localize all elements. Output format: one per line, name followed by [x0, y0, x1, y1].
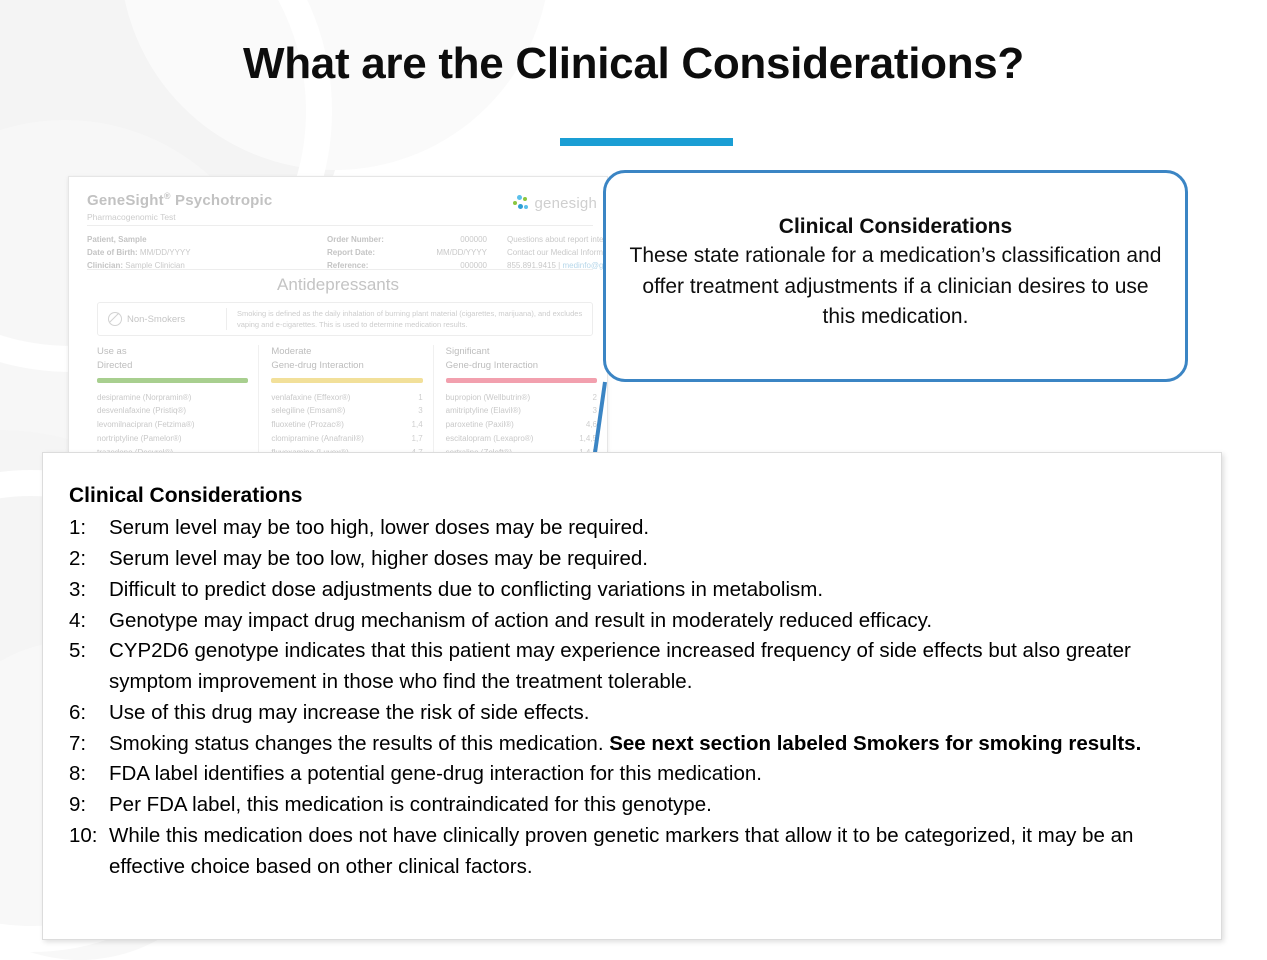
- column-color-bar: [271, 378, 422, 383]
- medication-name: desipramine (Norpramin®): [97, 391, 191, 405]
- considerations-list: 1:Serum level may be too high, lower dos…: [69, 513, 1195, 882]
- item-number: 1:: [69, 513, 109, 544]
- column-heading-line1: Significant: [446, 345, 597, 359]
- column-heading-line1: Moderate: [271, 345, 422, 359]
- list-item: 4:Genotype may impact drug mechanism of …: [69, 606, 1195, 637]
- list-item: 8:FDA label identifies a potential gene-…: [69, 759, 1195, 790]
- clinical-considerations-callout: Clinical Considerations These state rati…: [603, 170, 1188, 382]
- medication-notes: 1,4: [406, 418, 423, 432]
- column-heading-line2: Directed: [97, 359, 248, 373]
- medication-row: escitalopram (Lexapro®)1,4,5: [446, 432, 597, 446]
- genesight-logo: genesigh: [512, 193, 598, 213]
- registered-mark-icon: ®: [164, 191, 171, 201]
- report-date-value: MM/DD/YYYY: [436, 246, 487, 259]
- column-heading: Moderate Gene-drug Interaction: [271, 345, 422, 373]
- report-section-title: Antidepressants: [69, 275, 607, 295]
- item-text: FDA label identifies a potential gene-dr…: [109, 759, 1195, 790]
- report-subtitle: Pharmacogenomic Test: [87, 212, 593, 222]
- report-date-label: Report Date:: [327, 246, 375, 259]
- patient-name: Patient, Sample: [87, 233, 191, 246]
- medication-name: levomilnacipran (Fetzima®): [97, 418, 194, 432]
- medication-row: venlafaxine (Effexor®)1: [271, 391, 422, 405]
- medication-row: amitriptyline (Elavil®)3: [446, 404, 597, 418]
- item-number: 6:: [69, 698, 109, 729]
- item-text: Smoking status changes the results of th…: [109, 729, 1195, 760]
- column-use-as-directed: Use as Directed desipramine (Norpramin®)…: [97, 345, 259, 454]
- no-smoking-icon: [108, 312, 122, 326]
- medication-name: desvenlafaxine (Pristiq®): [97, 404, 186, 418]
- medication-name: clomipramine (Anafranil®): [271, 432, 364, 446]
- order-row: Reference:000000: [327, 259, 487, 272]
- medication-row: selegiline (Emsam®)3: [271, 404, 422, 418]
- patient-dob: Date of Birth: MM/DD/YYYY: [87, 246, 191, 259]
- item-text: Use of this drug may increase the risk o…: [109, 698, 1195, 729]
- medication-name: paroxetine (Paxil®): [446, 418, 514, 432]
- patient-dob-label: Date of Birth:: [87, 248, 138, 257]
- medication-notes: [242, 391, 248, 405]
- medication-name: bupropion (Wellbutrin®): [446, 391, 530, 405]
- report-title-brand: GeneSight: [87, 192, 164, 209]
- item-number: 5:: [69, 636, 109, 698]
- slide-canvas: What are the Clinical Considerations? Ge…: [0, 0, 1267, 960]
- report-title-rest: Psychotropic: [171, 192, 273, 209]
- contact-line-2: Contact our Medical Information team:: [507, 246, 608, 259]
- clinical-considerations-card: Clinical Considerations 1:Serum level ma…: [42, 452, 1222, 940]
- non-smokers-label: Non-Smokers: [127, 314, 185, 325]
- medication-row: nortriptyline (Pamelor®): [97, 432, 248, 446]
- non-smokers-badge: Non-Smokers: [98, 312, 226, 326]
- medication-notes: 4,6: [580, 418, 597, 432]
- medication-notes: 3: [412, 404, 422, 418]
- medication-row: fluoxetine (Prozac®)1,4: [271, 418, 422, 432]
- medication-list: venlafaxine (Effexor®)1 selegiline (Emsa…: [271, 391, 422, 454]
- list-item: 1:Serum level may be too high, lower dos…: [69, 513, 1195, 544]
- item-number: 4:: [69, 606, 109, 637]
- order-number-value: 000000: [460, 233, 487, 246]
- medication-notes: [242, 404, 248, 418]
- medication-row: levomilnacipran (Fetzima®): [97, 418, 248, 432]
- item-number: 7:: [69, 729, 109, 760]
- medication-name: amitriptyline (Elavil®): [446, 404, 521, 418]
- medication-row: desipramine (Norpramin®): [97, 391, 248, 405]
- item-number: 8:: [69, 759, 109, 790]
- list-item: 10:While this medication does not have c…: [69, 821, 1195, 883]
- report-divider-top: [87, 225, 593, 226]
- order-row: Report Date:MM/DD/YYYY: [327, 246, 487, 259]
- medication-notes: [242, 432, 248, 446]
- report-divider-mid: [87, 269, 593, 270]
- list-item: 5:CYP2D6 genotype indicates that this pa…: [69, 636, 1195, 698]
- contact-line-3: 855.891.9415 | medinfo@genesight.com: [507, 259, 608, 272]
- medication-notes: 1: [412, 391, 422, 405]
- callout-body: These state rationale for a medication’s…: [628, 241, 1163, 332]
- item-text: Serum level may be too high, lower doses…: [109, 513, 1195, 544]
- smoker-status-box: Non-Smokers Smoking is defined as the da…: [97, 302, 593, 336]
- item-number: 2:: [69, 544, 109, 575]
- patient-dob-value: MM/DD/YYYY: [140, 248, 191, 257]
- medication-name: venlafaxine (Effexor®): [271, 391, 350, 405]
- item-number: 9:: [69, 790, 109, 821]
- medication-notes: 1,7: [406, 432, 423, 446]
- report-contact-block: Questions about report interpretation? C…: [507, 233, 608, 273]
- title-accent-bar: [560, 138, 733, 146]
- medication-row: bupropion (Wellbutrin®)2: [446, 391, 597, 405]
- item-number: 10:: [69, 821, 109, 883]
- medication-name: selegiline (Emsam®): [271, 404, 345, 418]
- column-moderate-interaction: Moderate Gene-drug Interaction venlafaxi…: [271, 345, 433, 454]
- genesight-dots-icon: [512, 193, 532, 213]
- column-heading: Significant Gene-drug Interaction: [446, 345, 597, 373]
- medication-list: bupropion (Wellbutrin®)2 amitriptyline (…: [446, 391, 597, 454]
- medication-row: clomipramine (Anafranil®)1,7: [271, 432, 422, 446]
- medication-notes: 2: [587, 391, 597, 405]
- item-text: CYP2D6 genotype indicates that this pati…: [109, 636, 1195, 698]
- list-item: 9:Per FDA label, this medication is cont…: [69, 790, 1195, 821]
- column-heading-line1: Use as: [97, 345, 248, 359]
- medication-columns: Use as Directed desipramine (Norpramin®)…: [97, 345, 597, 454]
- item-text: While this medication does not have clin…: [109, 821, 1195, 883]
- report-patient-block: Patient, Sample Date of Birth: MM/DD/YYY…: [87, 233, 191, 273]
- list-item: 2:Serum level may be too low, higher dos…: [69, 544, 1195, 575]
- item-number: 3:: [69, 575, 109, 606]
- smoker-definition-note: Smoking is defined as the daily inhalati…: [226, 308, 592, 331]
- column-heading-line2: Gene-drug Interaction: [271, 359, 422, 373]
- order-number-label: Order Number:: [327, 233, 384, 246]
- medication-row: paroxetine (Paxil®)4,6: [446, 418, 597, 432]
- order-row: Order Number:000000: [327, 233, 487, 246]
- callout-title: Clinical Considerations: [779, 215, 1012, 239]
- medication-list: desipramine (Norpramin®) desvenlafaxine …: [97, 391, 248, 454]
- item-text: Genotype may impact drug mechanism of ac…: [109, 606, 1195, 637]
- column-color-bar: [97, 378, 248, 383]
- card-title: Clinical Considerations: [69, 481, 1195, 511]
- column-heading: Use as Directed: [97, 345, 248, 373]
- item-text: Difficult to predict dose adjustments du…: [109, 575, 1195, 606]
- patient-clinician: Clinician: Sample Clinician: [87, 259, 191, 272]
- column-color-bar: [446, 378, 597, 383]
- medication-name: escitalopram (Lexapro®): [446, 432, 534, 446]
- column-heading-line2: Gene-drug Interaction: [446, 359, 597, 373]
- reference-value: 000000: [460, 259, 487, 272]
- medication-notes: [242, 418, 248, 432]
- item-text: Serum level may be too low, higher doses…: [109, 544, 1195, 575]
- column-significant-interaction: Significant Gene-drug Interaction buprop…: [446, 345, 597, 454]
- genesight-report-preview: GeneSight® Psychotropic Pharmacogenomic …: [68, 176, 608, 454]
- medication-notes: 1,4,5: [573, 432, 597, 446]
- list-item: 6:Use of this drug may increase the risk…: [69, 698, 1195, 729]
- reference-label: Reference:: [327, 259, 368, 272]
- medication-row: desvenlafaxine (Pristiq®): [97, 404, 248, 418]
- genesight-wordmark: genesigh: [535, 195, 598, 212]
- list-item: 3:Difficult to predict dose adjustments …: [69, 575, 1195, 606]
- contact-line-1: Questions about report interpretation?: [507, 233, 608, 246]
- item-text: Per FDA label, this medication is contra…: [109, 790, 1195, 821]
- medication-name: nortriptyline (Pamelor®): [97, 432, 182, 446]
- report-order-block: Order Number:000000 Report Date:MM/DD/YY…: [327, 233, 487, 273]
- page-title: What are the Clinical Considerations?: [0, 40, 1267, 88]
- medication-name: fluoxetine (Prozac®): [271, 418, 344, 432]
- medication-notes: 3: [587, 404, 597, 418]
- list-item: 7:Smoking status changes the results of …: [69, 729, 1195, 760]
